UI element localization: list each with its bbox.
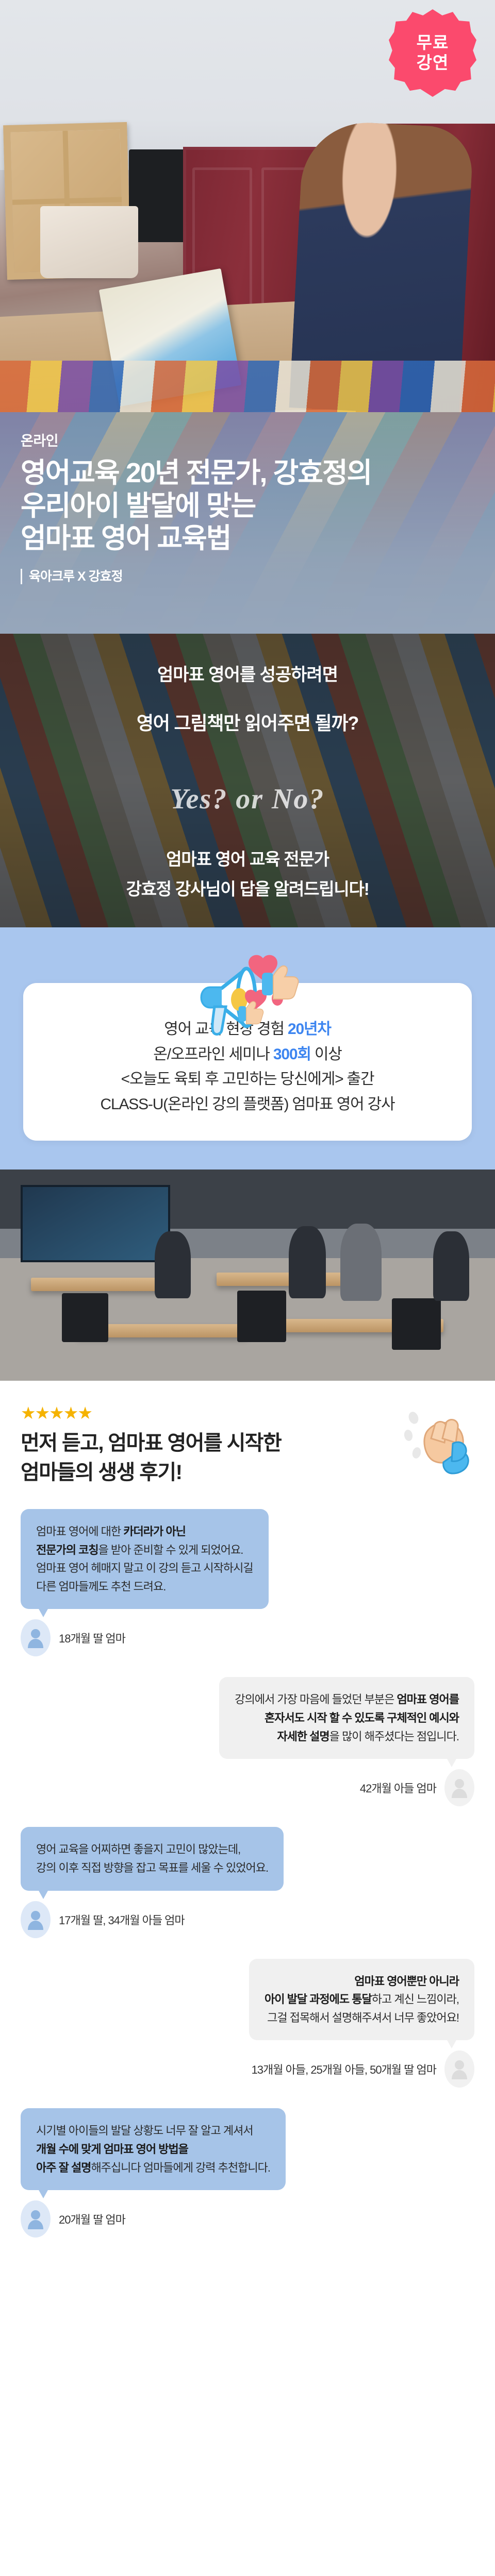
- testimonial-text-bold: 자세한 설명: [277, 1730, 329, 1743]
- testimonial-text-bold: 카더라가 아닌: [123, 1525, 186, 1538]
- testimonial-row: 강의에서 가장 마음에 들었던 부분은 엄마표 영어를 혼자서도 시작 할 수 …: [21, 1677, 474, 1759]
- testimonial-text: 강의 이후 직접 방향을 잡고 목표를 세울 수 있었어요.: [36, 1861, 268, 1874]
- testimonial-author: 20개월 딸 엄마: [21, 2200, 474, 2238]
- credential-2-post: 이상: [311, 1046, 342, 1063]
- testimonial-text: 영어 교육을 어찌하면 좋을지 고민이 많았는데,: [36, 1843, 240, 1856]
- testimonial-text-bold: 엄마표 영어를: [397, 1693, 459, 1706]
- testimonial-text: 을 많이 해주셨다는 점입니다.: [329, 1730, 459, 1743]
- classroom-projector-screen: [21, 1185, 170, 1262]
- reviews-section: ★★★★★ 먼저 듣고, 엄마표 영어를 시작한 엄마들의 생생 후기! 엄마표…: [0, 1381, 495, 2294]
- hero-photo-section: 무료 강연: [0, 0, 495, 412]
- testimonial-author-name: 17개월 딸, 34개월 아들 엄마: [59, 1911, 185, 1928]
- testimonial-text: 시기별 아이들의 발달 상황도 너무 잘 알고 계셔서: [36, 2124, 253, 2137]
- credential-line-3: <오늘도 육퇴 후 고민하는 당신에게> 출간: [34, 1067, 461, 1092]
- classroom-attendee: [289, 1226, 326, 1298]
- testimonial-text-bold: 개월 수에 맞게 엄마표 영어 방법을: [36, 2143, 188, 2156]
- page-title-line-3: 엄마표 영어 교육법: [21, 522, 474, 555]
- testimonial-author: 13개월 아들, 25개월 아들, 50개월 딸 엄마: [21, 2050, 474, 2088]
- clapping-hands-icon: [399, 1403, 476, 1481]
- testimonial-row: 시기별 아이들의 발달 상황도 너무 잘 알고 계셔서 개월 수에 맞게 엄마표…: [21, 2108, 474, 2190]
- testimonial-text: 엄마표 영어 헤매지 말고 이 강의 듣고 시작하시길: [36, 1562, 253, 1574]
- testimonial-author: 17개월 딸, 34개월 아들 엄마: [21, 1901, 474, 1938]
- title-content: 온라인 영어교육 20년 전문가, 강효정의 우리아이 발달에 맞는 엄마표 영…: [0, 412, 495, 584]
- testimonial-text: 하고 계신 느낌이라,: [372, 1993, 459, 2006]
- testimonial-text-bold: 전문가의 코칭: [36, 1544, 98, 1556]
- credentials-section: 영어 교육 현장 경험 20년차 온/오프라인 세미나 300회 이상 <오늘도…: [0, 927, 495, 1170]
- testimonial-row: 영어 교육을 어찌하면 좋을지 고민이 많았는데, 강의 이후 직접 방향을 잡…: [21, 1827, 474, 1890]
- classroom-attendee: [433, 1231, 469, 1301]
- question-banner-text: 엄마표 영어를 성공하려면 영어 그림책만 읽어주면 될까? Yes? or N…: [0, 634, 495, 900]
- testimonial-text-bold: 엄마표 영어뿐만 아니라: [354, 1975, 459, 1988]
- online-kicker: 온라인: [21, 430, 474, 450]
- credential-2-pre: 온/오프라인 세미나: [153, 1046, 273, 1063]
- testimonial-text: 그걸 접목해서 설명해주셔서 너무 좋았어요!: [267, 2011, 459, 2024]
- avatar: [21, 1901, 51, 1938]
- free-badge-line2: 강연: [417, 53, 449, 73]
- testimonial-bubble: 시기별 아이들의 발달 상황도 너무 잘 알고 계셔서 개월 수에 맞게 엄마표…: [21, 2108, 286, 2190]
- testimonial-text-bold: 혼자서도 시작 할 수 있도록 구체적인 예시와: [265, 1711, 459, 1724]
- testimonial-bubble: 강의에서 가장 마음에 들었던 부분은 엄마표 영어를 혼자서도 시작 할 수 …: [219, 1677, 474, 1759]
- testimonial-text-bold: 아주 잘 설명: [36, 2161, 91, 2174]
- page-title: 영어교육 20년 전문가, 강효정의 우리아이 발달에 맞는 엄마표 영어 교육…: [21, 457, 474, 555]
- credential-line-4: CLASS-U(온라인 강의 플랫폼) 엄마표 영어 강사: [34, 1092, 461, 1117]
- page-title-line-1: 영어교육 20년 전문가, 강효정의: [21, 457, 474, 490]
- testimonial-text-bold: 아이 발달 과정에도 통달: [265, 1993, 372, 2006]
- testimonial-bubble: 엄마표 영어에 대한 카더라가 아닌 전문가의 코칭을 받아 준비할 수 있게 …: [21, 1509, 269, 1609]
- question-line-1: 엄마표 영어를 성공하려면: [0, 660, 495, 686]
- avatar: [21, 1619, 51, 1656]
- classroom-chair: [62, 1293, 108, 1342]
- testimonial-row: 엄마표 영어에 대한 카더라가 아닌 전문가의 코칭을 받아 준비할 수 있게 …: [21, 1509, 474, 1609]
- answer-line-2: 강효정 강사님이 답을 알려드립니다!: [0, 875, 495, 900]
- page-title-line-2: 우리아이 발달에 맞는: [21, 490, 474, 523]
- classroom-photo-section: [0, 1170, 495, 1381]
- avatar: [444, 1769, 474, 1806]
- testimonial-author-name: 18개월 딸 엄마: [59, 1630, 125, 1646]
- testimonial-author-name: 20개월 딸 엄마: [59, 2211, 125, 2227]
- testimonial-text: 강의에서 가장 마음에 들었던 부분은: [235, 1693, 397, 1706]
- testimonial-author-name: 42개월 아들 엄마: [360, 1780, 436, 1796]
- testimonial-text: 해주십니다 엄마들에게 강력 추천합니다.: [91, 2161, 270, 2174]
- testimonial-author-name: 13개월 아들, 25개월 아들, 50개월 딸 엄마: [252, 2061, 436, 2077]
- classroom-attendee: [155, 1231, 191, 1298]
- classroom-chair: [237, 1291, 286, 1342]
- credential-2-em: 300회: [273, 1046, 311, 1063]
- classroom-attendee: [340, 1224, 382, 1301]
- free-badge-line1: 무료: [417, 33, 449, 53]
- question-line-2: 영어 그림책만 읽어주면 될까?: [0, 708, 495, 735]
- hero-books-on-table: [0, 361, 495, 412]
- megaphone-icon: [186, 939, 309, 1047]
- page-subtitle: 육아크루 X 강효정: [21, 569, 474, 584]
- testimonial-row: 엄마표 영어뿐만 아니라 아이 발달 과정에도 통달하고 계신 느낌이라, 그걸…: [21, 1959, 474, 2041]
- hero-title-section: 온라인 영어교육 20년 전문가, 강효정의 우리아이 발달에 맞는 엄마표 영…: [0, 412, 495, 634]
- testimonial-author: 42개월 아들 엄마: [21, 1769, 474, 1806]
- question-banner-section: 엄마표 영어를 성공하려면 영어 그림책만 읽어주면 될까? Yes? or N…: [0, 634, 495, 927]
- avatar: [21, 2200, 51, 2238]
- testimonial-text: 엄마표 영어에 대한: [36, 1525, 123, 1538]
- hero-handbag: [40, 206, 138, 278]
- testimonial-author: 18개월 딸 엄마: [21, 1619, 474, 1656]
- answer-line-1: 엄마표 영어 교육 전문가: [0, 845, 495, 870]
- testimonial-text: 을 받아 준비할 수 있게 되었어요.: [98, 1544, 243, 1556]
- testimonials-list: 엄마표 영어에 대한 카더라가 아닌 전문가의 코칭을 받아 준비할 수 있게 …: [21, 1509, 474, 2238]
- classroom-chair: [392, 1298, 441, 1350]
- testimonial-bubble: 엄마표 영어뿐만 아니라 아이 발달 과정에도 통달하고 계신 느낌이라, 그걸…: [249, 1959, 474, 2041]
- yes-or-no-script: Yes? or No?: [0, 783, 495, 816]
- avatar: [444, 2050, 474, 2088]
- testimonial-bubble: 영어 교육을 어찌하면 좋을지 고민이 많았는데, 강의 이후 직접 방향을 잡…: [21, 1827, 284, 1890]
- testimonial-text: 다른 엄마들께도 추천 드려요.: [36, 1580, 166, 1593]
- landing-page: 무료 강연 온라인 영어교육 20년 전문가, 강효정의 우리아이 발달에 맞는…: [0, 0, 495, 2294]
